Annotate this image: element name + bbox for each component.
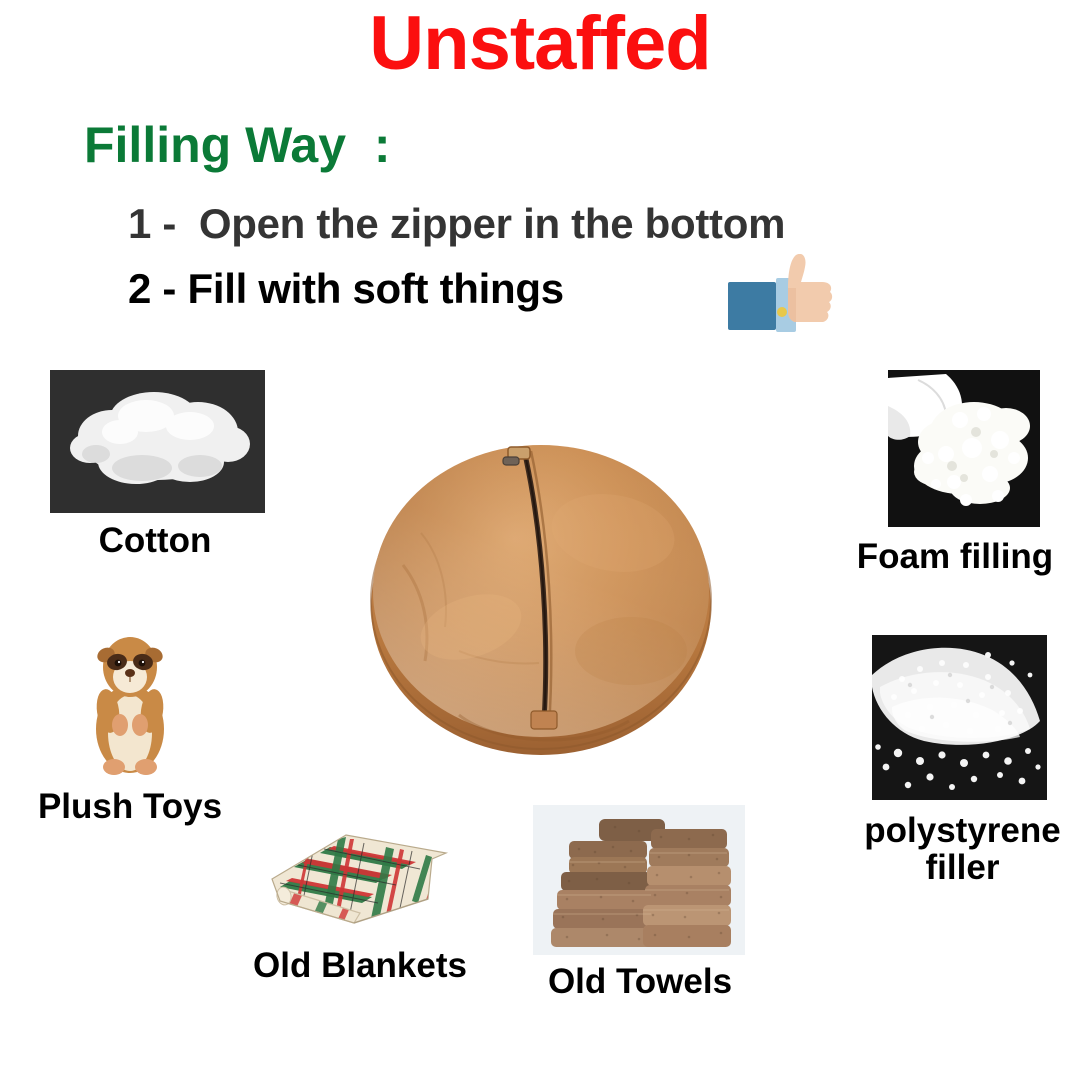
item-plush: Plush Toys	[0, 625, 260, 850]
item-label-towels: Old Towels	[500, 963, 780, 1000]
plush-toy-photo	[70, 625, 190, 780]
step-2-text: 2 - Fill with soft things	[128, 268, 564, 310]
item-label-plush: Plush Toys	[0, 788, 260, 825]
old-blankets-photo	[250, 825, 465, 935]
step-1-text: 1 - Open the zipper in the bottom	[128, 203, 785, 245]
leather-pouf-ottoman	[363, 415, 718, 760]
item-foam: Foam filling	[830, 370, 1080, 585]
filling-way-heading: Filling Way :	[84, 120, 390, 170]
item-blankets: Old Blankets	[215, 825, 505, 1000]
item-label-foam: Foam filling	[830, 538, 1080, 575]
item-towels: Old Towels	[500, 805, 780, 1005]
item-label-cotton: Cotton	[20, 522, 290, 559]
item-label-polystyrene: polystyrene filler	[845, 812, 1080, 886]
thumbs-up-icon	[726, 254, 846, 336]
item-poly: polystyrene filler	[845, 635, 1080, 900]
item-label-blankets: Old Blankets	[215, 947, 505, 984]
item-cotton: Cotton	[20, 370, 290, 570]
infographic-canvas: Unstaffed Filling Way : 1 - Open the zip…	[0, 0, 1080, 1080]
polystyrene-filler-photo	[872, 635, 1047, 800]
foam-filling-photo	[888, 370, 1040, 527]
cotton-photo	[50, 370, 265, 513]
page-title: Unstaffed	[0, 6, 1080, 82]
old-towels-photo	[533, 805, 745, 955]
